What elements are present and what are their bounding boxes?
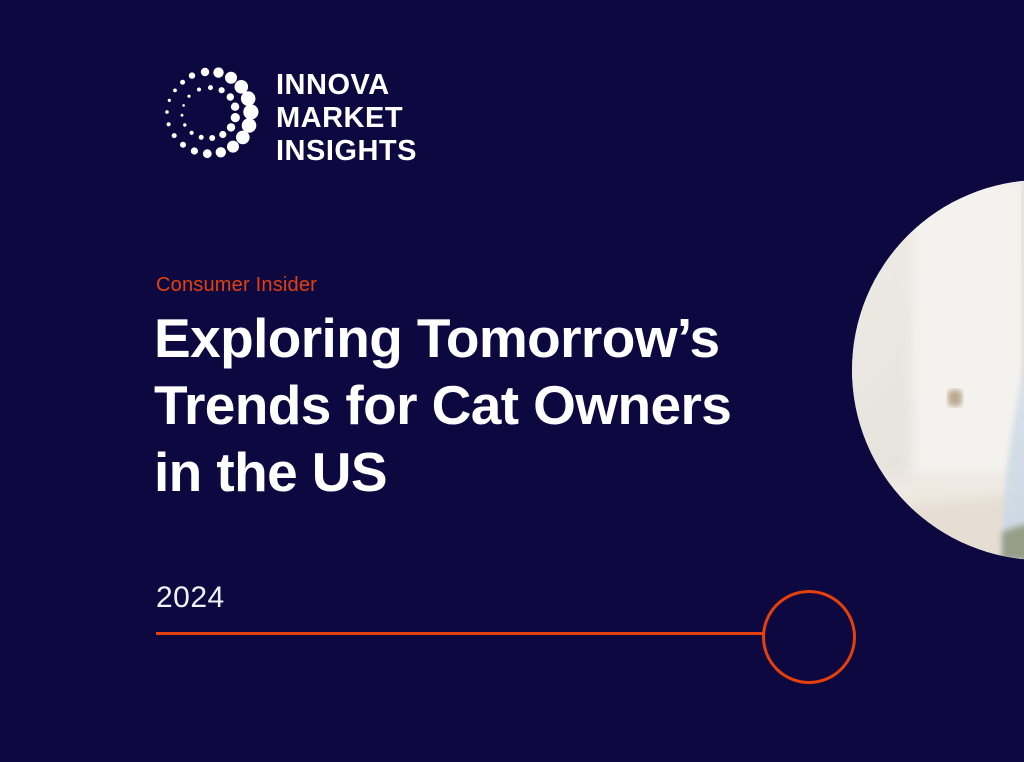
page-title: Exploring Tomorrow’s Trends for Cat Owne…: [154, 305, 834, 506]
logo-line-3: INSIGHTS: [276, 135, 417, 168]
logo-line-1: INNOVA: [276, 69, 417, 102]
eyebrow-label: Consumer Insider: [156, 274, 317, 297]
page-title-line-1: Exploring Tomorrow’s: [154, 305, 834, 372]
year-label: 2024: [156, 581, 225, 615]
innova-dots-icon: [156, 63, 266, 173]
logo-wordmark: INNOVA MARKET INSIGHTS: [276, 69, 417, 168]
accent-circle: [762, 590, 856, 684]
cover-page: INNOVA MARKET INSIGHTS Consumer Insider …: [0, 0, 1024, 762]
page-title-line-2: Trends for Cat Owners: [154, 372, 834, 439]
page-title-line-3: in the US: [154, 439, 834, 506]
innova-market-insights-logo: INNOVA MARKET INSIGHTS: [156, 63, 417, 173]
cover-photo: [852, 180, 1024, 560]
accent-rule: [156, 632, 764, 635]
logo-line-2: MARKET: [276, 102, 417, 135]
